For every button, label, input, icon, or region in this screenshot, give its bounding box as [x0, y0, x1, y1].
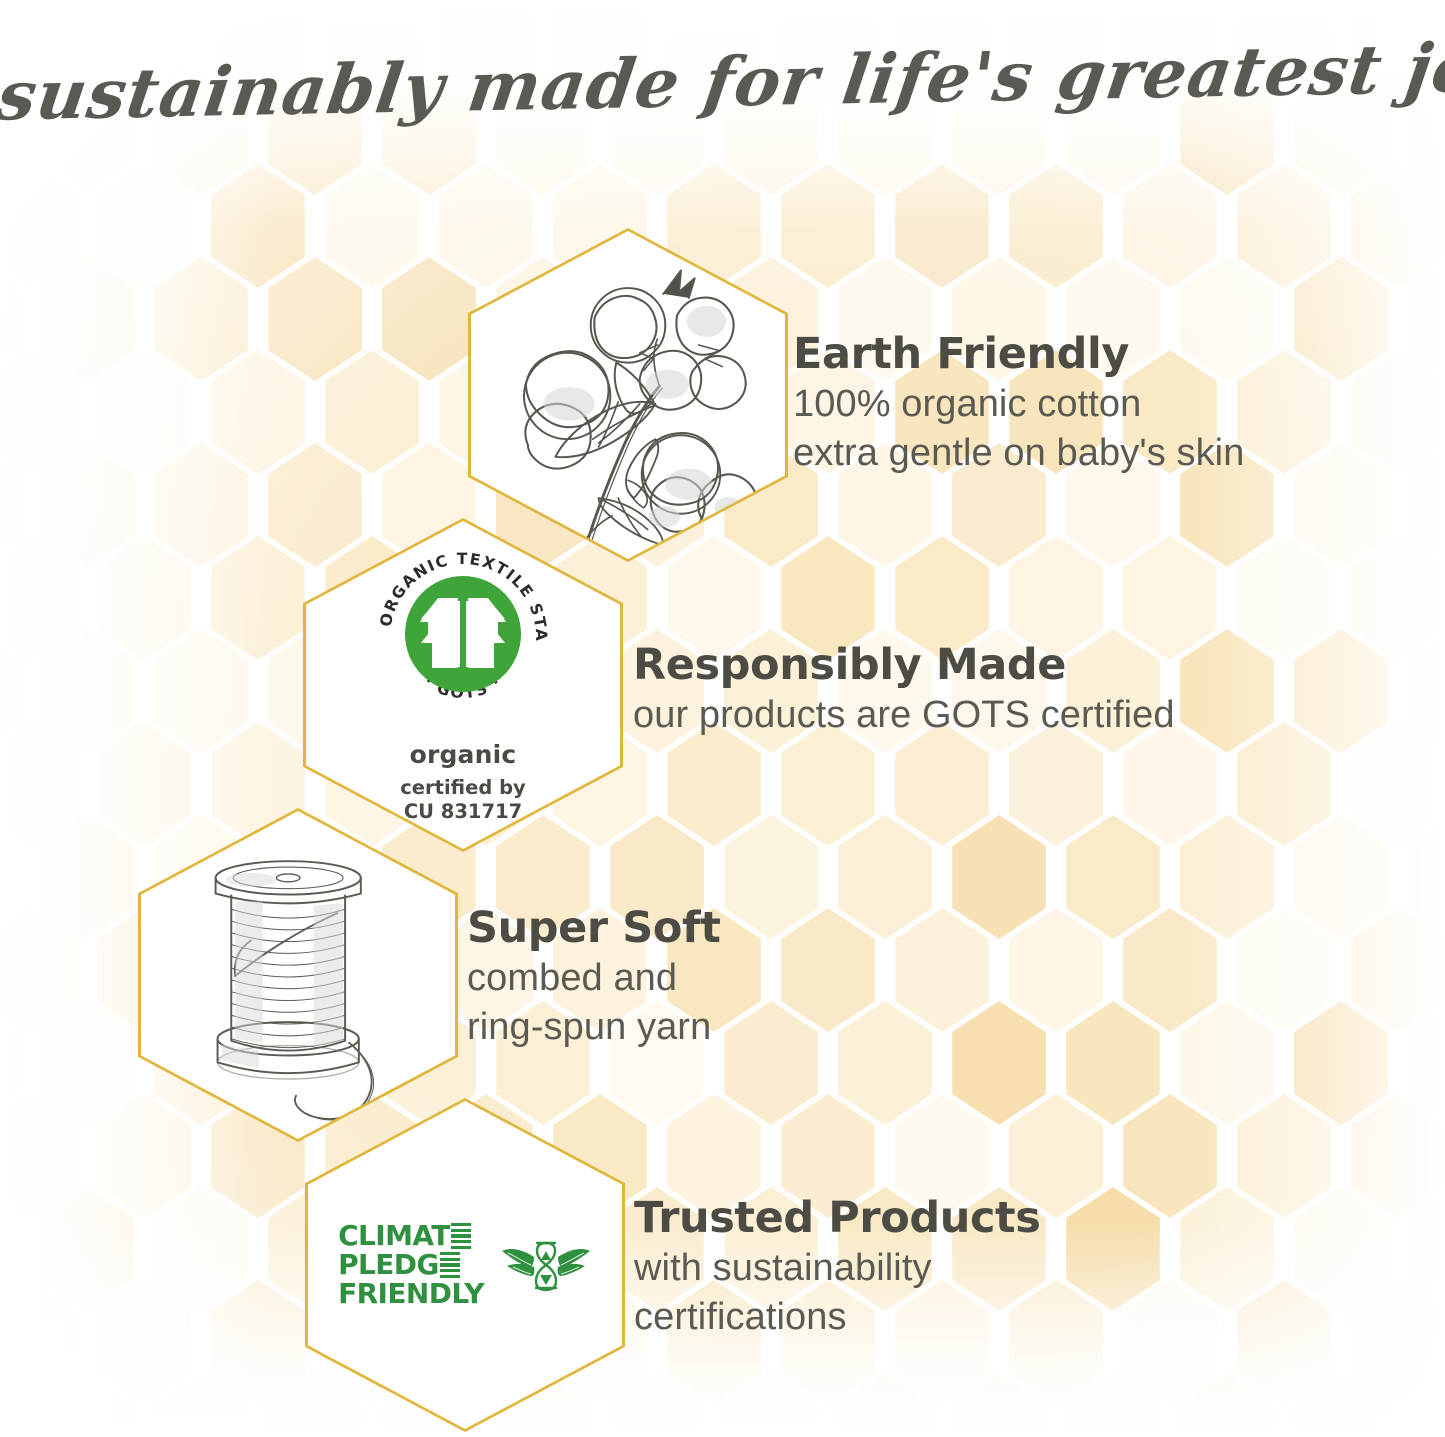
honeycomb-cell: [1351, 1094, 1445, 1218]
honeycomb-cell: [1237, 350, 1331, 474]
honeycomb-cell: [781, 722, 875, 846]
honeycomb-cell: [382, 257, 476, 381]
honeycomb-cell: [40, 815, 134, 939]
honeycomb-cell: [1180, 1001, 1274, 1125]
honeycomb-cell: [268, 443, 362, 567]
cpf-line-3-text: FRIENDLY: [338, 1280, 484, 1308]
honeycomb-cell: [1351, 536, 1445, 660]
honeycomb-cell: [97, 164, 191, 288]
cpf-line-2: PLEDG: [338, 1251, 484, 1279]
honeycomb-cell: [1237, 908, 1331, 1032]
honeycomb-cell: [97, 536, 191, 660]
honeycomb-cell: [0, 1094, 77, 1218]
honeycomb-cell: [97, 722, 191, 846]
honeycomb-cell: [1123, 164, 1217, 288]
honeycomb-cell: [895, 722, 989, 846]
honeycomb-cell: [1066, 815, 1160, 939]
honeycomb-cell: [724, 815, 818, 939]
feature-text-earth-friendly: Earth Friendly 100% organic cotton extra…: [793, 332, 1244, 478]
gots-certified-by: certified by CU 831717: [400, 776, 526, 824]
feature-line-trusted-products-1: with sustainability: [634, 1244, 1040, 1293]
honeycomb-cell: [781, 164, 875, 288]
honeycomb-cell: [1351, 722, 1445, 846]
honeycomb-cell: [211, 164, 305, 288]
honeycomb-cell: [154, 629, 248, 753]
honeycomb-cell: [1123, 908, 1217, 1032]
honeycomb-cell: [1294, 629, 1388, 753]
honeycomb-cell: [154, 443, 248, 567]
feature-heading-super-soft: Super Soft: [467, 906, 720, 952]
cpf-bars-1: [451, 1223, 471, 1249]
gots-seal-icon: GLOBAL ORGANIC TEXTILE STANDARD · GOTS ·: [372, 546, 554, 728]
feature-line-super-soft-1: combed and: [467, 954, 720, 1003]
feature-heading-responsibly-made: Responsibly Made: [633, 643, 1175, 689]
honeycomb-cell: [211, 1280, 305, 1404]
honeycomb-cell: [97, 350, 191, 474]
honeycomb-cell: [1009, 908, 1103, 1032]
honeycomb-cell: [1351, 350, 1445, 474]
honeycomb-cell: [1180, 1187, 1274, 1311]
honeycomb-cell: [40, 1001, 134, 1125]
cpf-line-2-text: PLEDG: [338, 1251, 439, 1279]
honeycomb-cell: [154, 1187, 248, 1311]
honeycomb-cell: [40, 443, 134, 567]
honeycomb-cell: [667, 722, 761, 846]
honeycomb-cell: [1123, 722, 1217, 846]
honeycomb-cell: [154, 257, 248, 381]
honeycomb-cell: [1351, 908, 1445, 1032]
cpf-wordmark: CLIMAT PLEDG FRIENDLY: [338, 1222, 484, 1308]
feature-text-responsibly-made: Responsibly Made our products are GOTS c…: [633, 643, 1175, 740]
honeycomb-cell: [895, 908, 989, 1032]
feature-heading-earth-friendly: Earth Friendly: [793, 332, 1244, 378]
tagline-container: sustainably made for life's greatest joy…: [0, 42, 1445, 122]
cpf-line-3: FRIENDLY: [338, 1280, 484, 1308]
honeycomb-cell: [439, 164, 533, 288]
honeycomb-cell: [40, 629, 134, 753]
page-title: sustainably made for life's greatest joy…: [0, 27, 1445, 136]
honeycomb-cell: [211, 350, 305, 474]
honeycomb-cell: [838, 815, 932, 939]
honeycomb-cell: [40, 257, 134, 381]
honeycomb-cell: [781, 908, 875, 1032]
honeycomb-cell: [1123, 536, 1217, 660]
honeycomb-cell: [1066, 1187, 1160, 1311]
honeycomb-cell: [325, 164, 419, 288]
infographic-canvas: sustainably made for life's greatest joy…: [0, 0, 1445, 1437]
cpf-line-1-text: CLIMAT: [338, 1222, 450, 1250]
honeycomb-cell: [952, 1001, 1046, 1125]
honeycomb-cell: [1123, 1094, 1217, 1218]
honeycomb-cell: [0, 1280, 77, 1404]
winged-hourglass-icon: [500, 1229, 592, 1301]
honeycomb-cell: [1237, 536, 1331, 660]
honeycomb-cell: [1294, 257, 1388, 381]
feature-heading-trusted-products: Trusted Products: [634, 1196, 1040, 1242]
cpf-line-1: CLIMAT: [338, 1222, 484, 1250]
honeycomb-cell: [1180, 629, 1274, 753]
honeycomb-cell: [268, 257, 362, 381]
honeycomb-cell: [1237, 164, 1331, 288]
honeycomb-cell: [1294, 1001, 1388, 1125]
feature-line-earth-friendly-2: extra gentle on baby's skin: [793, 429, 1244, 478]
honeycomb-cell: [0, 908, 77, 1032]
honeycomb-cell: [838, 1001, 932, 1125]
gots-certifier-code: CU 831717: [400, 800, 526, 824]
honeycomb-cell: [97, 1094, 191, 1218]
honeycomb-cell: [0, 722, 77, 846]
climate-pledge-friendly-icon: CLIMAT PLEDG FRIENDLY: [338, 1222, 592, 1308]
honeycomb-cell: [1180, 815, 1274, 939]
honeycomb-cell: [0, 350, 77, 474]
honeycomb-cell: [40, 1187, 134, 1311]
honeycomb-cell: [1009, 164, 1103, 288]
honeycomb-cell: [724, 1001, 818, 1125]
honeycomb-cell: [1294, 443, 1388, 567]
honeycomb-cell: [1351, 1280, 1445, 1404]
honeycomb-cell: [952, 815, 1046, 939]
honeycomb-cell: [1066, 1001, 1160, 1125]
honeycomb-cell: [1294, 815, 1388, 939]
feature-line-super-soft-2: ring-spun yarn: [467, 1003, 720, 1052]
honeycomb-cell: [1351, 164, 1445, 288]
honeycomb-cell: [895, 164, 989, 288]
honeycomb-cell: [1237, 1094, 1331, 1218]
honeycomb-cell: [1237, 1280, 1331, 1404]
feature-line-responsibly-made-1: our products are GOTS certified: [633, 691, 1175, 740]
gots-label-organic: organic: [410, 740, 517, 769]
honeycomb-cell: [211, 536, 305, 660]
honeycomb-cell: [0, 164, 77, 288]
honeycomb-cell: [97, 1280, 191, 1404]
feature-text-trusted-products: Trusted Products with sustainability cer…: [634, 1196, 1040, 1342]
honeycomb-cell: [1009, 722, 1103, 846]
gots-circle-mark: GLOBAL ORGANIC TEXTILE STANDARD · GOTS ·: [372, 546, 554, 728]
honeycomb-cell: [1237, 722, 1331, 846]
gots-certified-by-line: certified by: [400, 776, 526, 800]
tagline-text: sustainably made for life's greatest joy: [0, 27, 1445, 136]
honeycomb-cell: [1123, 1280, 1217, 1404]
feature-line-trusted-products-2: certifications: [634, 1293, 1040, 1342]
gots-badge: GLOBAL ORGANIC TEXTILE STANDARD · GOTS ·: [372, 546, 554, 824]
cpf-bars-2: [440, 1252, 460, 1278]
honeycomb-cell: [1294, 1187, 1388, 1311]
honeycomb-cell: [325, 350, 419, 474]
feature-line-earth-friendly-1: 100% organic cotton: [793, 380, 1244, 429]
feature-text-super-soft: Super Soft combed and ring-spun yarn: [467, 906, 720, 1052]
honeycomb-cell: [0, 536, 77, 660]
